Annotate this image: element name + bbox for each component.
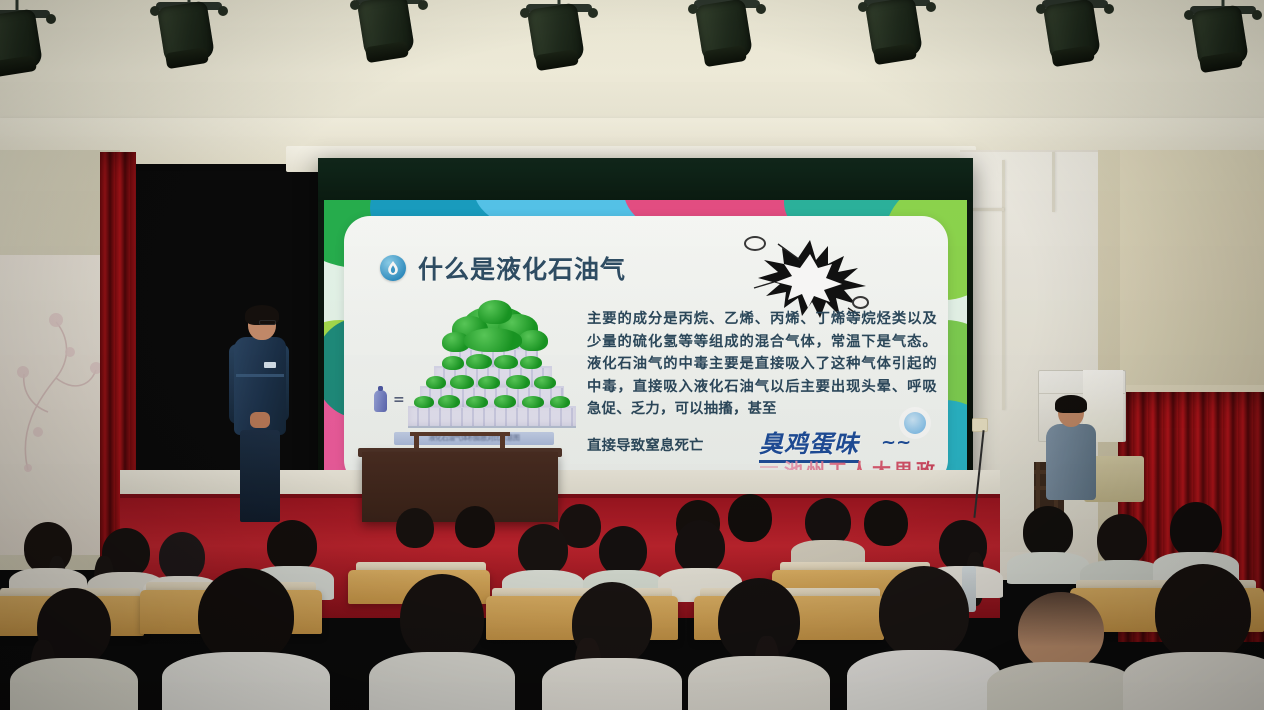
lecture-hall-photo: 什么是液化石油气 =: [0, 0, 1264, 710]
foliage: [466, 396, 488, 408]
wall-conduit: [1002, 160, 1005, 410]
foliage: [494, 395, 516, 408]
foliage: [506, 375, 530, 389]
foliage: [464, 328, 522, 352]
floral-wall-decal: [8, 300, 104, 490]
foliage: [518, 330, 548, 351]
wall-conduit: [1052, 152, 1055, 212]
audience-member: [866, 566, 982, 710]
flame-icon: [380, 255, 406, 281]
presenter-hands: [250, 412, 270, 428]
illustration-baseline: [408, 426, 576, 428]
stage-light: [1036, 0, 1114, 70]
wall-socket: [972, 418, 988, 432]
foliage: [450, 375, 474, 389]
stage-light: [1184, 2, 1262, 76]
water-drop-icon: [904, 412, 926, 434]
audience-member: [706, 578, 812, 710]
audience-member: [452, 506, 498, 554]
equals-sign: =: [393, 392, 405, 408]
audience-member: [388, 574, 496, 710]
audience-member: [392, 508, 438, 554]
foliage: [520, 356, 542, 369]
audience-member: [24, 588, 124, 710]
audience-member: [560, 582, 664, 710]
watermark-dash: [760, 466, 778, 468]
gas-cylinder-icon: [374, 390, 387, 412]
stage-light: [150, 0, 228, 72]
smoke-puff: [744, 236, 766, 251]
stage-light: [688, 0, 766, 70]
audience-area: [0, 470, 1264, 710]
stage-light: [520, 0, 598, 74]
audience-member: [1016, 506, 1080, 580]
foliage: [534, 376, 556, 389]
foliage: [414, 396, 434, 408]
foliage: [522, 396, 544, 408]
foliage: [550, 396, 570, 408]
audience-member: [1006, 592, 1116, 710]
staff-hair: [1055, 395, 1087, 413]
smell-callout-suffix: ~~: [881, 432, 911, 453]
slide-body-paragraph: 主要的成分是丙烷、乙烯、丙烯、丁烯等烷烃类以及少量的硫化氢等等组成的混合气体，常…: [587, 308, 937, 421]
foliage: [438, 395, 460, 408]
foliage: [466, 354, 492, 369]
foliage: [494, 355, 518, 369]
stage-light: [858, 0, 936, 68]
stage-light: [350, 0, 428, 66]
audience-member: [18, 522, 78, 596]
pyramid-tier: [408, 406, 576, 428]
led-screen-bezel: [318, 158, 973, 202]
foliage: [442, 356, 464, 370]
foliage: [426, 376, 446, 389]
slide-title: 什么是液化石油气: [418, 250, 626, 286]
wall-conduit: [972, 208, 1004, 211]
audience-member: [1142, 564, 1264, 710]
audience-member: [800, 498, 856, 558]
presenter-glasses: [259, 320, 276, 325]
beige-column: [1098, 150, 1264, 395]
presenter-badge: [264, 362, 276, 368]
audience-member: [860, 500, 912, 558]
stage-light: [0, 6, 56, 80]
gas-expansion-illustration: =: [368, 308, 580, 450]
foliage: [478, 300, 512, 324]
foliage: [478, 376, 500, 389]
slide-title-row: 什么是液化石油气: [380, 250, 626, 286]
audience-member: [182, 568, 310, 710]
slide-body-tail: 直接导致窒息死亡: [587, 434, 704, 455]
presenter-uniform-stripe: [236, 374, 284, 377]
